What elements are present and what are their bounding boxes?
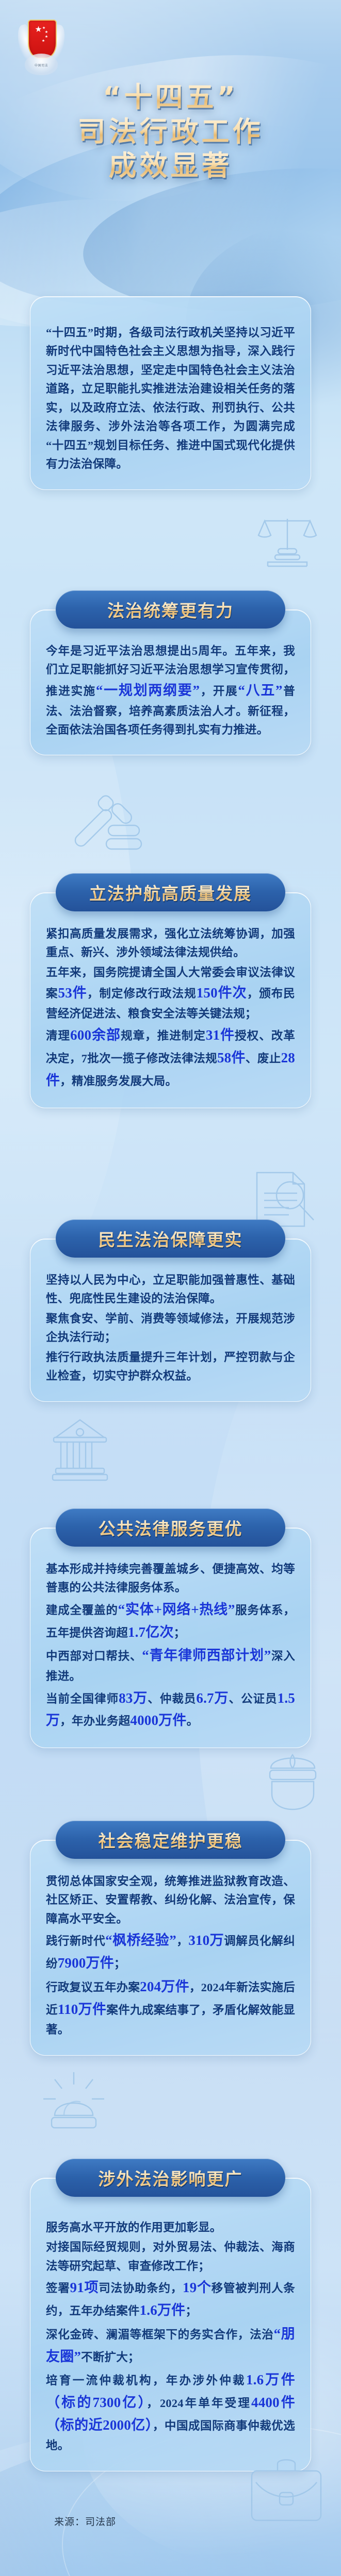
- section-card-rule-of-law-coordination: 今年是习近平法治思想提出5周年。五年来，我们立足职能抓好习近平法治思想学习宣传贯…: [30, 609, 311, 755]
- section-card-livelihood-legal-guarantee: 坚持以人民为中心，立足职能加强普惠性、基础性、兜底性民生建设的法治保障。 聚焦食…: [30, 1239, 311, 1402]
- section-heading-label: 公共法律服务更优: [99, 1515, 243, 1540]
- title-line-1: “十四五”: [0, 81, 341, 114]
- section-paragraph: 践行新时代“枫桥经验”，310万调解员化解纠纷7900万件；: [46, 1929, 295, 1974]
- intro-paragraph: “十四五”时期，各级司法行政机关坚持以习近平新时代中国特色社会主义思想为指导，深…: [46, 324, 295, 474]
- section-heading-rule-of-law-coordination: 法治统筹更有力: [56, 590, 285, 629]
- section-paragraph: 对接国际经贸规则，对外贸易法、仲裁法、海商法等研究起草、审查修改工作；: [46, 2238, 295, 2276]
- alarm-light-icon: [40, 2071, 107, 2130]
- section-card-foreign-related-rule-of-law: 服务高水平开放的作用更加彰显。 对接国际经贸规则，对外贸易法、仲裁法、海商法等研…: [30, 2178, 311, 2471]
- section-heading-label: 社会稳定维护更稳: [99, 1827, 243, 1852]
- section-card-public-legal-services: 基本形成并持续完善覆盖城乡、便捷高效、均等普惠的公共法律服务体系。 建成全覆盖的…: [30, 1528, 311, 1748]
- poster-title: “十四五” 司法行政工作 成效显著: [0, 81, 341, 182]
- gavel-icon: [66, 793, 143, 860]
- section-paragraph: 培育一流仲裁机构，年办涉外仲裁1.6万件（标的7300亿），2024年单年受理4…: [46, 2369, 295, 2455]
- title-line-3: 成效显著: [0, 150, 341, 182]
- section-heading-livelihood-legal-guarantee: 民生法治保障更实: [56, 1219, 285, 1258]
- section-paragraph: 深化金砖、澜湄等框架下的务实合作，法治“朋友圈”不断扩大；: [46, 2323, 295, 2368]
- publisher-logo: 央广网: [0, 2572, 341, 2576]
- section-heading-label: 民生法治保障更实: [99, 1226, 243, 1251]
- section-heading-label: 法治统筹更有力: [107, 597, 234, 622]
- section-heading-legislation-high-quality-development: 立法护航高质量发展: [56, 873, 285, 911]
- section-card-legislation-high-quality-development: 紧扣高质量发展需求，强化立法统筹协调，加强重点、新兴、涉外领域法律法规供给。 五…: [30, 892, 311, 1108]
- scales-of-justice-icon: [256, 513, 318, 574]
- source-label: 来源：司法部: [54, 2514, 116, 2528]
- section-card-social-stability: 贯彻总体国家安全观，统筹推进监狱教育改造、社区矫正、安置帮教、纠纷化解、法治宣传…: [30, 1840, 311, 2056]
- section-paragraph: 坚持以人民为中心，立足职能加强普惠性、基础性、兜底性民生建设的法治保障。: [46, 1271, 295, 1309]
- section-paragraph: 行政复议五年办案204万件，2024年新法实施后近110万件案件九成案结事了，矛…: [46, 1976, 295, 2040]
- section-paragraph: 签署91项司法协助条约，19个移管被判刑人条约，五年办结案件1.6万件；: [46, 2277, 295, 2321]
- section-paragraph: 基本形成并持续完善覆盖城乡、便捷高效、均等普惠的公共法律服务体系。: [46, 1560, 295, 1598]
- section-heading-public-legal-services: 公共法律服务更优: [56, 1509, 285, 1547]
- section-paragraph: 服务高水平开放的作用更加彰显。: [46, 2218, 295, 2237]
- section-paragraph: 中西部对口帮扶、“青年律师西部计划”深入推进。: [46, 1645, 295, 1686]
- infographic-poster: ★ ★ ★ ★ ★ 中国司法 “十四五” 司法行政工作 成效显著 “十四五”时期…: [0, 0, 341, 2576]
- section-heading-foreign-related-rule-of-law: 涉外法治影响更广: [56, 2159, 285, 2197]
- police-cap-icon: [266, 1747, 320, 1811]
- section-paragraph: 清理600余部规章，推进制定31件授权、改革决定，7批次一揽子修改法律法规58件…: [46, 1024, 295, 1092]
- section-paragraph: 聚焦食安、学前、消费等领域修法，开展规范涉企执法行动；: [46, 1310, 295, 1347]
- section-heading-label: 涉外法治影响更广: [99, 2165, 243, 2190]
- section-paragraph: 紧扣高质量发展需求，强化立法统筹协调，加强重点、新兴、涉外领域法律法规供给。: [46, 925, 295, 962]
- section-paragraph: 贯彻总体国家安全观，统筹推进监狱教育改造、社区矫正、安置帮教、纠纷化解、法治宣传…: [46, 1872, 295, 1928]
- section-heading-social-stability: 社会稳定维护更稳: [56, 1821, 285, 1859]
- section-paragraph: 今年是习近平法治思想提出5周年。五年来，我们立足职能抓好习近平法治思想学习宣传贯…: [46, 642, 295, 739]
- intro-card: “十四五”时期，各级司法行政机关坚持以习近平新时代中国特色社会主义思想为指导，深…: [30, 296, 311, 490]
- title-line-2: 司法行政工作: [0, 116, 341, 148]
- section-paragraph: 五年来，国务院提请全国人大常委会审议法律议案53件，制定修改行政法规150件次，…: [46, 963, 295, 1024]
- section-paragraph: 当前全国律师83万、仲裁员6.7万、公证员1.5万，年办业务超4000万件。: [46, 1687, 295, 1732]
- emblem-caption: 中国司法: [18, 63, 65, 67]
- section-paragraph: 建成全覆盖的“实体+网络+热线”服务体系，五年提供咨询超1.7亿次；: [46, 1599, 295, 1643]
- ministry-of-justice-emblem-icon: ★ ★ ★ ★ ★ 中国司法: [18, 15, 65, 78]
- courthouse-pillar-icon: [52, 1417, 108, 1484]
- section-heading-label: 立法护航高质量发展: [89, 880, 252, 905]
- briefcase-icon: [248, 2452, 325, 2524]
- section-paragraph: 推行行政执法质量提升三年计划，严控罚款与企业检查，切实守护群众权益。: [46, 1348, 295, 1386]
